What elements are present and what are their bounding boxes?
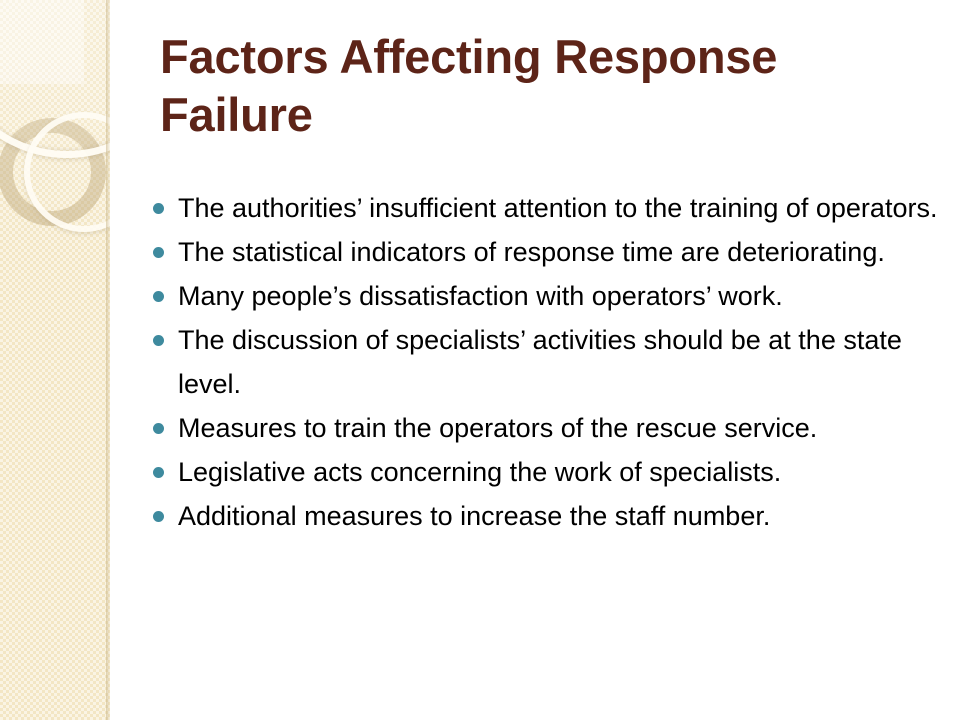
bullet-dot-icon (153, 423, 164, 434)
list-item: Measures to train the operators of the r… (150, 406, 940, 450)
list-item: Many people’s dissatisfaction with opera… (150, 274, 940, 318)
list-item-text: The authorities’ insufficient attention … (178, 193, 937, 223)
list-item: Legislative acts concerning the work of … (150, 450, 940, 494)
presentation-slide: Factors Affecting Response Failure The a… (0, 0, 960, 720)
bullet-dot-icon (153, 335, 164, 346)
slide-title: Factors Affecting Response Failure (160, 28, 880, 144)
bullet-dot-icon (153, 247, 164, 258)
list-item-text: The discussion of specialists’ activitie… (178, 325, 902, 399)
slide-bullet-list: The authorities’ insufficient attention … (150, 186, 940, 538)
list-item-text: Measures to train the operators of the r… (178, 413, 817, 443)
list-item-text: Legislative acts concerning the work of … (178, 457, 781, 487)
sidebar-edge-divider (106, 0, 110, 720)
bullet-dot-icon (153, 203, 164, 214)
bullet-dot-icon (153, 467, 164, 478)
list-item: The authorities’ insufficient attention … (150, 186, 940, 230)
list-item-text: Additional measures to increase the staf… (178, 501, 770, 531)
list-item-text: Many people’s dissatisfaction with opera… (178, 281, 783, 311)
bullet-dot-icon (153, 511, 164, 522)
list-item: The discussion of specialists’ activitie… (150, 318, 940, 406)
list-item: Additional measures to increase the staf… (150, 494, 940, 538)
slide-sidebar-decoration (0, 0, 110, 720)
list-item: The statistical indicators of response t… (150, 230, 940, 274)
bullet-dot-icon (153, 291, 164, 302)
list-item-text: The statistical indicators of response t… (178, 237, 885, 267)
